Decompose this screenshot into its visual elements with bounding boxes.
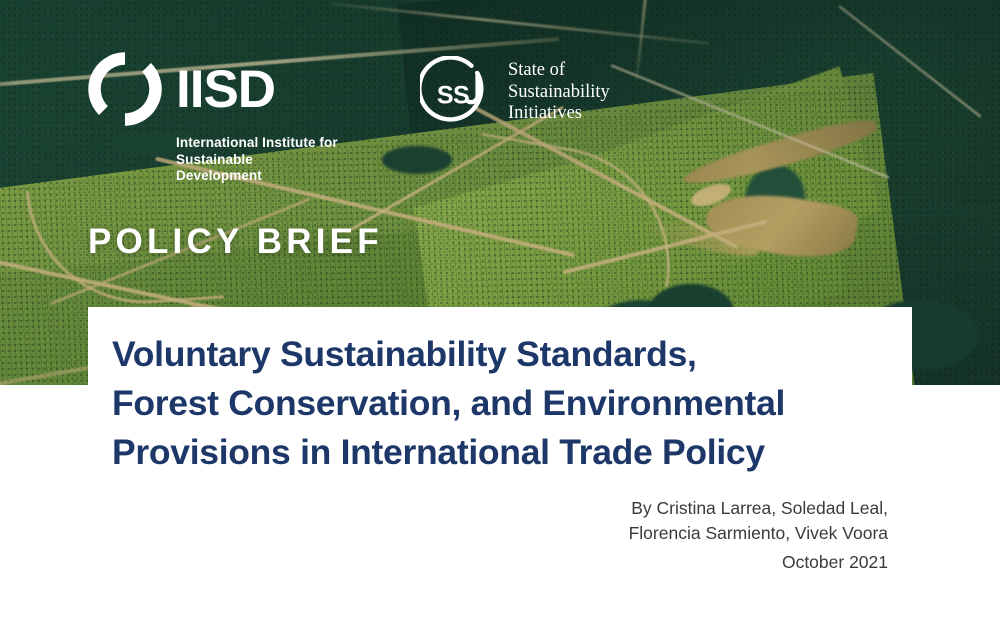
- iisd-tagline: International Institute for Sustainable …: [176, 135, 338, 185]
- policy-brief-kicker: POLICY BRIEF: [88, 222, 383, 262]
- iisd-logo: IISD International Institute for Sustain…: [88, 52, 338, 185]
- title-line-1: Voluntary Sustainability Standards,: [112, 330, 912, 379]
- page-title: Voluntary Sustainability Standards, Fore…: [112, 330, 912, 477]
- ssi-circle-icon: SS: [420, 56, 496, 132]
- iisd-wordmark: IISD: [176, 63, 275, 116]
- logo-row: IISD International Institute for Sustain…: [88, 52, 610, 185]
- policy-brief-cover-page: IISD International Institute for Sustain…: [0, 0, 1000, 620]
- ssi-name: State of Sustainability Initiatives: [508, 56, 610, 125]
- author-byline: By Cristina Larrea, Soledad Leal, Floren…: [368, 496, 888, 546]
- iisd-ring-icon: [88, 52, 162, 126]
- svg-text:SS: SS: [437, 82, 469, 110]
- title-line-2: Forest Conservation, and Environmental: [112, 379, 912, 428]
- ssi-logo: SS State of Sustainability Initiatives: [420, 52, 610, 132]
- title-line-3: Provisions in International Trade Policy: [112, 428, 912, 477]
- publication-date: October 2021: [368, 550, 888, 575]
